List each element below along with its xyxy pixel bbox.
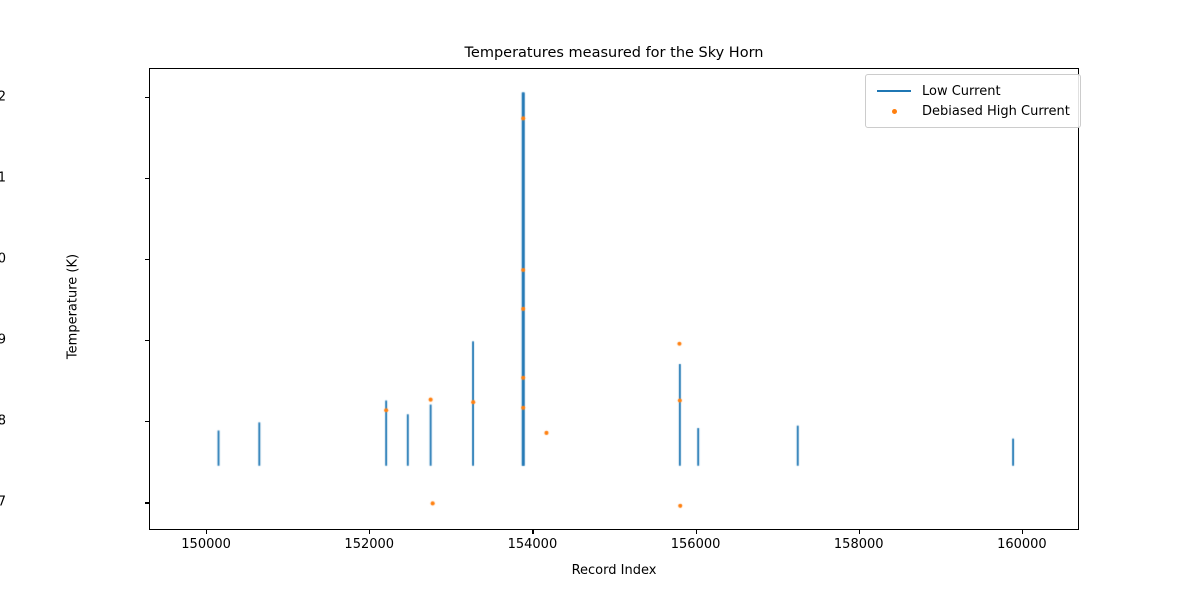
- y-tick-label: 3.2: [0, 90, 6, 105]
- x-tick-mark: [696, 530, 697, 534]
- x-tick-label: 154000: [508, 537, 558, 552]
- x-axis-label: Record Index: [149, 563, 1079, 578]
- y-tick-label: 3.0: [0, 252, 6, 267]
- x-tick-label: 152000: [344, 537, 394, 552]
- legend-label-low-current: Low Current: [922, 84, 1001, 99]
- series-plot-canvas: [150, 69, 1079, 530]
- x-tick-mark: [532, 530, 533, 534]
- plot-area: [149, 68, 1079, 530]
- legend-entry-debiased-high-current[interactable]: Debiased High Current: [874, 101, 1070, 121]
- x-tick-label: 150000: [181, 537, 231, 552]
- legend-line-swatch-icon: [874, 90, 914, 92]
- chart-legend[interactable]: Low Current Debiased High Current: [865, 74, 1081, 128]
- x-tick-mark: [859, 530, 860, 534]
- y-tick-label: 2.8: [0, 414, 6, 429]
- x-tick-mark: [1022, 530, 1023, 534]
- y-axis-label: Temperature (K): [66, 217, 81, 397]
- chart-title: Temperatures measured for the Sky Horn: [149, 45, 1079, 61]
- figure-canvas: Temperatures measured for the Sky Horn T…: [0, 0, 1200, 600]
- y-tick-label: 2.9: [0, 333, 6, 348]
- x-tick-label: 160000: [997, 537, 1047, 552]
- legend-dot-swatch-icon: [874, 109, 914, 114]
- legend-entry-low-current[interactable]: Low Current: [874, 81, 1070, 101]
- y-tick-label: 2.7: [0, 495, 6, 510]
- legend-label-debiased-high-current: Debiased High Current: [922, 104, 1070, 119]
- x-tick-mark: [206, 530, 207, 534]
- x-tick-mark: [369, 530, 370, 534]
- y-tick-label: 3.1: [0, 171, 6, 186]
- x-tick-label: 156000: [671, 537, 721, 552]
- x-tick-label: 158000: [834, 537, 884, 552]
